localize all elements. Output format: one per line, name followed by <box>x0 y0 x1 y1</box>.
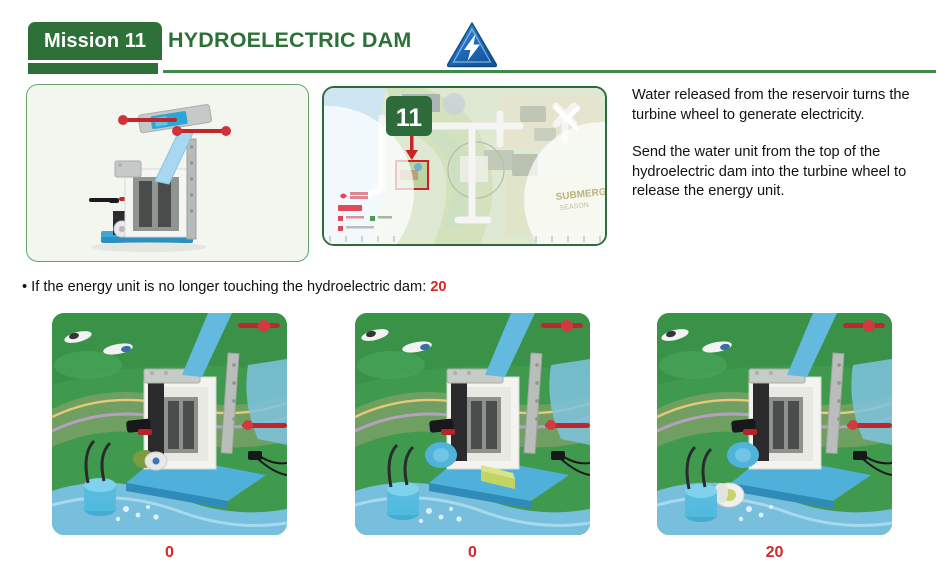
scoring-condition-line: • If the energy unit is no longer touchi… <box>22 279 447 295</box>
header-rule-line <box>163 70 936 73</box>
example-photo-3 <box>657 313 892 535</box>
example-score-2: 0 <box>355 544 590 562</box>
electricity-warning-triangle-icon <box>444 18 500 70</box>
mission-number-badge: Mission 11 <box>28 22 162 60</box>
map-marker-11: 11 <box>386 96 432 136</box>
page-title: HYDROELECTRIC DAM <box>168 28 411 53</box>
example-score-3: 20 <box>657 544 892 562</box>
description-paragraph-2: Send the water unit from the top of the … <box>632 143 920 202</box>
svg-text:11: 11 <box>396 104 423 132</box>
mission-card-page: Mission 11 HYDROELECTRIC DAM <box>0 0 936 586</box>
description-paragraph-1: Water released from the reservoir turns … <box>632 86 920 125</box>
scoring-example-2: 0 <box>355 313 590 562</box>
header-rule-block <box>28 63 158 74</box>
example-photo-1 <box>52 313 287 535</box>
mission-header: Mission 11 HYDROELECTRIC DAM <box>0 22 936 74</box>
mission-badge-label: Mission 11 <box>44 30 146 53</box>
scoring-example-3: 20 <box>657 313 892 562</box>
example-score-1: 0 <box>52 544 287 562</box>
example-photo-2 <box>355 313 590 535</box>
mission-model-photo <box>26 84 309 262</box>
bullet-marker: • <box>22 279 27 295</box>
mission-location-map: SUBMERGED SEASON 11 <box>322 86 607 246</box>
mission-description: Water released from the reservoir turns … <box>632 86 920 202</box>
scoring-example-1: 0 <box>52 313 287 562</box>
scoring-points-value: 20 <box>430 279 446 295</box>
scoring-examples-row: 0 <box>0 313 936 563</box>
scoring-condition-text: If the energy unit is no longer touching… <box>31 279 430 295</box>
